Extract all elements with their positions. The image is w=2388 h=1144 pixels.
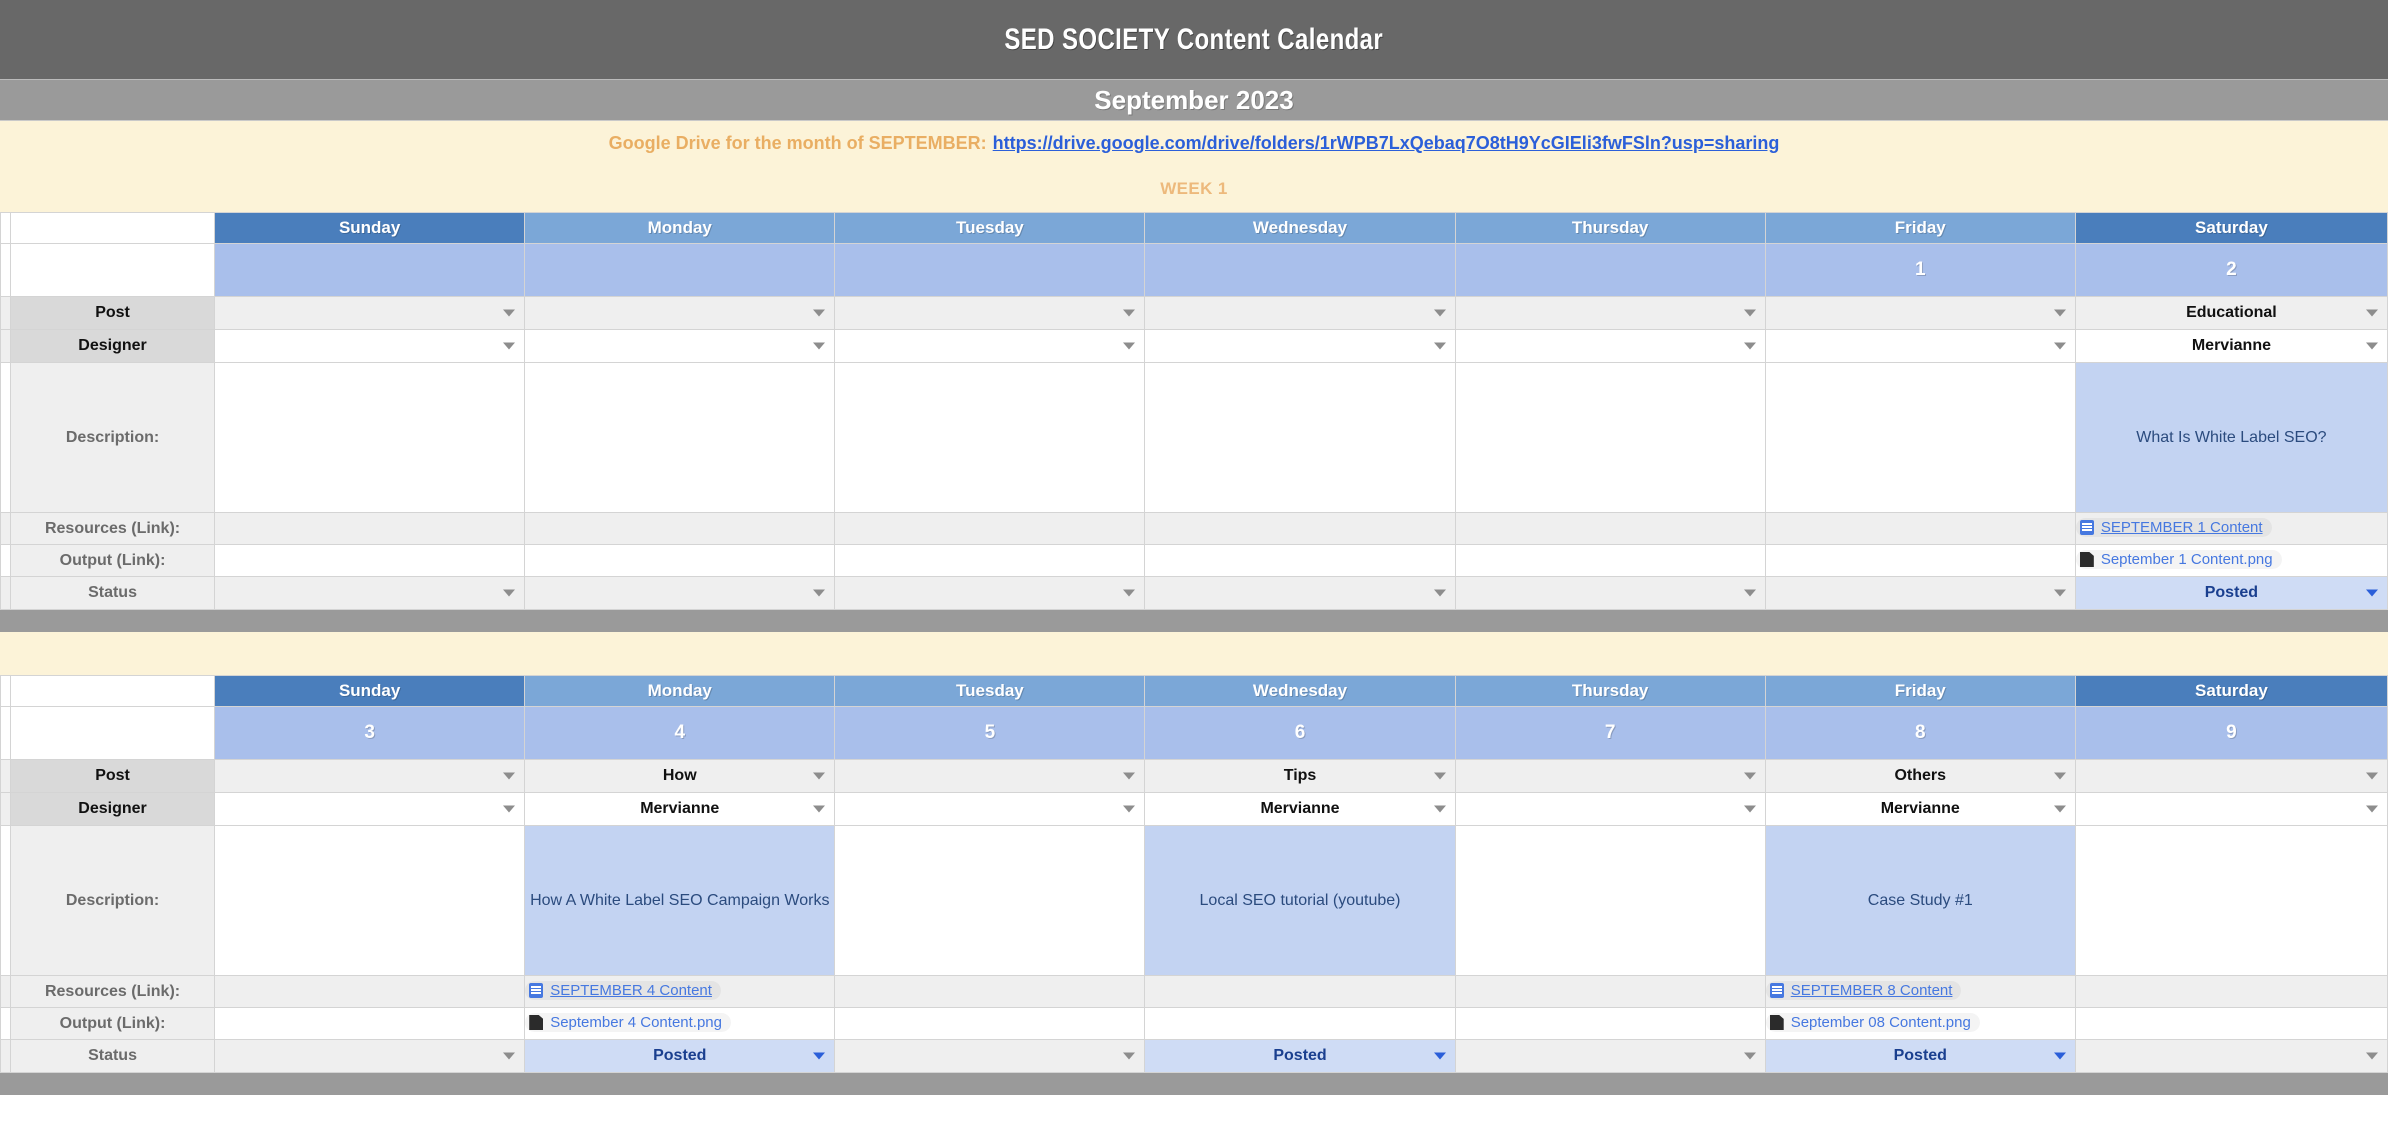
status-cell-3[interactable] bbox=[1145, 577, 1455, 610]
resource-link-text: SEPTEMBER 4 Content bbox=[550, 982, 712, 999]
row-gutter bbox=[1, 545, 11, 577]
row-gutter bbox=[1, 793, 11, 826]
post-cell-6[interactable] bbox=[2075, 760, 2387, 793]
sheet-title-banner: SED SOCIETY Content Calendar bbox=[0, 0, 2388, 80]
designer-cell-6[interactable]: Mervianne bbox=[2075, 330, 2387, 363]
designer-cell-4[interactable] bbox=[1455, 793, 1765, 826]
resources-row: Resources (Link):SEPTEMBER 1 Content bbox=[1, 513, 2388, 545]
resource-cell-0[interactable] bbox=[215, 976, 525, 1008]
status-row: StatusPostedPostedPosted bbox=[1, 1040, 2388, 1073]
week-label: WEEK 1 bbox=[1160, 179, 1228, 199]
post-cell-0[interactable] bbox=[215, 760, 525, 793]
image-file-icon bbox=[2080, 552, 2094, 567]
dropdown-caret-icon[interactable] bbox=[1123, 343, 1135, 350]
row-gutter bbox=[1, 826, 11, 976]
drive-folder-link[interactable]: https://drive.google.com/drive/folders/1… bbox=[993, 133, 1780, 154]
output-link-chip[interactable]: September 08 Content.png bbox=[1766, 1013, 1980, 1032]
designer-cell-1[interactable]: Mervianne bbox=[525, 793, 835, 826]
output-link-text: September 4 Content.png bbox=[550, 1014, 722, 1031]
post-cell-5[interactable] bbox=[1765, 297, 2075, 330]
resource-cell-1[interactable]: SEPTEMBER 4 Content bbox=[525, 976, 835, 1008]
corner-cell bbox=[11, 676, 215, 707]
resource-cell-6[interactable] bbox=[2075, 976, 2387, 1008]
day-header-wednesday: Wednesday bbox=[1145, 213, 1455, 244]
status-cell-6[interactable] bbox=[2075, 1040, 2387, 1073]
resource-cell-4[interactable] bbox=[1455, 976, 1765, 1008]
dropdown-caret-icon[interactable] bbox=[503, 343, 515, 350]
week-2-label-row bbox=[0, 632, 2388, 675]
output-link-chip[interactable]: September 1 Content.png bbox=[2076, 550, 2282, 569]
status-cell-5[interactable] bbox=[1765, 577, 2075, 610]
dropdown-caret-icon[interactable] bbox=[1123, 590, 1135, 597]
dropdown-caret-icon[interactable] bbox=[2054, 806, 2066, 813]
dropdown-caret-icon[interactable] bbox=[503, 1053, 515, 1060]
page-title: SED SOCIETY Content Calendar bbox=[1005, 23, 1384, 57]
designer-cell-1[interactable] bbox=[525, 330, 835, 363]
dropdown-caret-icon[interactable] bbox=[813, 773, 825, 780]
status-cell-0[interactable] bbox=[215, 1040, 525, 1073]
description-cell-3[interactable] bbox=[1145, 363, 1455, 513]
row-gutter bbox=[1, 1008, 11, 1040]
row-gutter bbox=[1, 513, 11, 545]
dropdown-caret-icon[interactable] bbox=[1434, 1053, 1446, 1060]
resource-cell-2[interactable] bbox=[835, 513, 1145, 545]
row-gutter bbox=[1, 676, 11, 707]
dropdown-caret-icon[interactable] bbox=[1744, 1053, 1756, 1060]
bottom-gray-band bbox=[0, 1073, 2388, 1095]
week-separator-gray bbox=[0, 610, 2388, 632]
row-label-output: Output (Link): bbox=[11, 1008, 215, 1040]
row-gutter bbox=[1, 1040, 11, 1073]
post-cell-5[interactable]: Others bbox=[1765, 760, 2075, 793]
dropdown-caret-icon[interactable] bbox=[813, 343, 825, 350]
week-2-grid: SundayMondayTuesdayWednesdayThursdayFrid… bbox=[0, 675, 2388, 1073]
week-1-label-row: WEEK 1 bbox=[0, 166, 2388, 212]
dropdown-caret-icon[interactable] bbox=[1123, 310, 1135, 317]
output-cell-0[interactable] bbox=[215, 545, 525, 577]
dropdown-caret-icon[interactable] bbox=[2054, 1053, 2066, 1060]
dropdown-caret-icon[interactable] bbox=[2054, 590, 2066, 597]
row-label-resources: Resources (Link): bbox=[11, 976, 215, 1008]
date-cell-2[interactable] bbox=[835, 244, 1145, 297]
row-gutter bbox=[1, 707, 11, 760]
dropdown-caret-icon[interactable] bbox=[1434, 590, 1446, 597]
corner-cell bbox=[11, 707, 215, 760]
row-label-description: Description: bbox=[11, 826, 215, 976]
day-header-thursday: Thursday bbox=[1455, 676, 1765, 707]
row-gutter bbox=[1, 577, 11, 610]
resource-cell-1[interactable] bbox=[525, 513, 835, 545]
output-cell-2[interactable] bbox=[835, 545, 1145, 577]
row-label-description: Description: bbox=[11, 363, 215, 513]
output-cell-6[interactable]: September 1 Content.png bbox=[2075, 545, 2387, 577]
post-cell-1[interactable] bbox=[525, 297, 835, 330]
resource-link-chip[interactable]: SEPTEMBER 8 Content bbox=[1766, 981, 1962, 1000]
output-link-text: September 08 Content.png bbox=[1791, 1014, 1971, 1031]
day-header-friday: Friday bbox=[1765, 213, 2075, 244]
content-calendar-sheet: SED SOCIETY Content Calendar September 2… bbox=[0, 0, 2388, 1144]
date-number-row: 3456789 bbox=[1, 707, 2388, 760]
dropdown-caret-icon[interactable] bbox=[2054, 310, 2066, 317]
dropdown-caret-icon[interactable] bbox=[1434, 806, 1446, 813]
post-row: PostEducational bbox=[1, 297, 2388, 330]
resource-cell-2[interactable] bbox=[835, 976, 1145, 1008]
dropdown-caret-icon[interactable] bbox=[813, 310, 825, 317]
resource-link-chip[interactable]: SEPTEMBER 1 Content bbox=[2076, 518, 2272, 537]
resource-cell-5[interactable]: SEPTEMBER 8 Content bbox=[1765, 976, 2075, 1008]
date-cell-0[interactable]: 3 bbox=[215, 707, 525, 760]
date-cell-1[interactable] bbox=[525, 244, 835, 297]
dropdown-caret-icon[interactable] bbox=[813, 590, 825, 597]
row-label-output: Output (Link): bbox=[11, 545, 215, 577]
date-cell-4[interactable]: 7 bbox=[1455, 707, 1765, 760]
dropdown-caret-icon[interactable] bbox=[813, 1053, 825, 1060]
row-gutter bbox=[1, 760, 11, 793]
dropdown-caret-icon[interactable] bbox=[503, 310, 515, 317]
designer-cell-3[interactable]: Mervianne bbox=[1145, 793, 1455, 826]
designer-row: DesignerMervianne bbox=[1, 330, 2388, 363]
dropdown-caret-icon[interactable] bbox=[2366, 806, 2378, 813]
status-row: StatusPosted bbox=[1, 577, 2388, 610]
week-2-body: SundayMondayTuesdayWednesdayThursdayFrid… bbox=[1, 676, 2388, 1073]
date-cell-5[interactable]: 8 bbox=[1765, 707, 2075, 760]
day-header-tuesday: Tuesday bbox=[835, 676, 1145, 707]
output-cell-3[interactable] bbox=[1145, 1008, 1455, 1040]
dropdown-caret-icon[interactable] bbox=[1744, 806, 1756, 813]
row-label-post: Post bbox=[11, 297, 215, 330]
output-cell-5[interactable] bbox=[1765, 545, 2075, 577]
description-cell-3[interactable]: Local SEO tutorial (youtube) bbox=[1145, 826, 1455, 976]
description-cell-1[interactable]: How A White Label SEO Campaign Works bbox=[525, 826, 835, 976]
designer-cell-6[interactable] bbox=[2075, 793, 2387, 826]
status-cell-0[interactable] bbox=[215, 577, 525, 610]
drive-link-row: Google Drive for the month of SEPTEMBER:… bbox=[0, 121, 2388, 166]
dropdown-caret-icon[interactable] bbox=[2366, 773, 2378, 780]
post-cell-1[interactable]: How bbox=[525, 760, 835, 793]
status-cell-5[interactable]: Posted bbox=[1765, 1040, 2075, 1073]
output-cell-0[interactable] bbox=[215, 1008, 525, 1040]
designer-cell-5[interactable] bbox=[1765, 330, 2075, 363]
day-header-sunday: Sunday bbox=[215, 676, 525, 707]
date-number-row: 12 bbox=[1, 244, 2388, 297]
description-cell-6[interactable]: What Is White Label SEO? bbox=[2075, 363, 2387, 513]
resource-link-text: SEPTEMBER 8 Content bbox=[1791, 982, 1953, 999]
resource-link-chip[interactable]: SEPTEMBER 4 Content bbox=[525, 981, 721, 1000]
dropdown-caret-icon[interactable] bbox=[2366, 310, 2378, 317]
date-cell-3[interactable]: 6 bbox=[1145, 707, 1455, 760]
image-file-icon bbox=[1770, 1015, 1784, 1030]
row-label-post: Post bbox=[11, 760, 215, 793]
output-cell-1[interactable] bbox=[525, 545, 835, 577]
date-cell-6[interactable]: 2 bbox=[2075, 244, 2387, 297]
resource-cell-5[interactable] bbox=[1765, 513, 2075, 545]
dropdown-caret-icon[interactable] bbox=[2366, 1053, 2378, 1060]
status-cell-6[interactable]: Posted bbox=[2075, 577, 2387, 610]
dropdown-caret-icon[interactable] bbox=[2366, 343, 2378, 350]
row-label-status: Status bbox=[11, 1040, 215, 1073]
description-row: Description:How A White Label SEO Campai… bbox=[1, 826, 2388, 976]
resources-row: Resources (Link):SEPTEMBER 4 ContentSEPT… bbox=[1, 976, 2388, 1008]
dropdown-caret-icon[interactable] bbox=[503, 590, 515, 597]
row-label-designer: Designer bbox=[11, 330, 215, 363]
resource-cell-0[interactable] bbox=[215, 513, 525, 545]
description-cell-1[interactable] bbox=[525, 363, 835, 513]
designer-row: DesignerMervianneMervianneMervianne bbox=[1, 793, 2388, 826]
day-header-saturday: Saturday bbox=[2075, 213, 2387, 244]
image-file-icon bbox=[529, 1015, 543, 1030]
post-cell-0[interactable] bbox=[215, 297, 525, 330]
row-gutter bbox=[1, 330, 11, 363]
date-cell-2[interactable]: 5 bbox=[835, 707, 1145, 760]
post-row: PostHowTipsOthers bbox=[1, 760, 2388, 793]
designer-cell-0[interactable] bbox=[215, 793, 525, 826]
designer-cell-4[interactable] bbox=[1455, 330, 1765, 363]
status-cell-4[interactable] bbox=[1455, 577, 1765, 610]
corner-cell bbox=[11, 213, 215, 244]
output-row: Output (Link):September 4 Content.pngSep… bbox=[1, 1008, 2388, 1040]
description-cell-5[interactable]: Case Study #1 bbox=[1765, 826, 2075, 976]
day-header-sunday: Sunday bbox=[215, 213, 525, 244]
row-gutter bbox=[1, 363, 11, 513]
post-cell-2[interactable] bbox=[835, 760, 1145, 793]
day-header-saturday: Saturday bbox=[2075, 676, 2387, 707]
post-cell-4[interactable] bbox=[1455, 297, 1765, 330]
resource-cell-6[interactable]: SEPTEMBER 1 Content bbox=[2075, 513, 2387, 545]
status-cell-1[interactable]: Posted bbox=[525, 1040, 835, 1073]
post-cell-2[interactable] bbox=[835, 297, 1145, 330]
day-header-friday: Friday bbox=[1765, 676, 2075, 707]
status-cell-4[interactable] bbox=[1455, 1040, 1765, 1073]
drive-link-label: Google Drive for the month of SEPTEMBER: bbox=[609, 133, 987, 154]
day-header-tuesday: Tuesday bbox=[835, 213, 1145, 244]
output-cell-4[interactable] bbox=[1455, 545, 1765, 577]
dropdown-caret-icon[interactable] bbox=[2366, 590, 2378, 597]
row-gutter bbox=[1, 297, 11, 330]
designer-cell-2[interactable] bbox=[835, 330, 1145, 363]
output-cell-5[interactable]: September 08 Content.png bbox=[1765, 1008, 2075, 1040]
post-cell-4[interactable] bbox=[1455, 760, 1765, 793]
week-1-body: SundayMondayTuesdayWednesdayThursdayFrid… bbox=[1, 213, 2388, 610]
description-cell-4[interactable] bbox=[1455, 363, 1765, 513]
row-label-status: Status bbox=[11, 577, 215, 610]
google-doc-icon bbox=[2080, 520, 2094, 535]
resource-cell-3[interactable] bbox=[1145, 513, 1455, 545]
row-gutter bbox=[1, 213, 11, 244]
dropdown-caret-icon[interactable] bbox=[2054, 773, 2066, 780]
dropdown-caret-icon[interactable] bbox=[503, 806, 515, 813]
dropdown-caret-icon[interactable] bbox=[1744, 773, 1756, 780]
month-banner: September 2023 bbox=[0, 80, 2388, 121]
output-cell-6[interactable] bbox=[2075, 1008, 2387, 1040]
output-cell-2[interactable] bbox=[835, 1008, 1145, 1040]
date-cell-3[interactable] bbox=[1145, 244, 1455, 297]
description-row: Description:What Is White Label SEO? bbox=[1, 363, 2388, 513]
status-cell-3[interactable]: Posted bbox=[1145, 1040, 1455, 1073]
description-cell-4[interactable] bbox=[1455, 826, 1765, 976]
dropdown-caret-icon[interactable] bbox=[1744, 310, 1756, 317]
dropdown-caret-icon[interactable] bbox=[1123, 773, 1135, 780]
dropdown-caret-icon[interactable] bbox=[1434, 343, 1446, 350]
description-cell-5[interactable] bbox=[1765, 363, 2075, 513]
description-cell-0[interactable] bbox=[215, 826, 525, 976]
post-cell-3[interactable] bbox=[1145, 297, 1455, 330]
output-cell-3[interactable] bbox=[1145, 545, 1455, 577]
day-header-monday: Monday bbox=[525, 676, 835, 707]
date-cell-5[interactable]: 1 bbox=[1765, 244, 2075, 297]
row-gutter bbox=[1, 976, 11, 1008]
dropdown-caret-icon[interactable] bbox=[1744, 343, 1756, 350]
output-link-text: September 1 Content.png bbox=[2101, 551, 2273, 568]
dropdown-caret-icon[interactable] bbox=[503, 773, 515, 780]
row-label-designer: Designer bbox=[11, 793, 215, 826]
day-header-monday: Monday bbox=[525, 213, 835, 244]
row-label-resources: Resources (Link): bbox=[11, 513, 215, 545]
day-header-thursday: Thursday bbox=[1455, 213, 1765, 244]
date-cell-4[interactable] bbox=[1455, 244, 1765, 297]
description-cell-2[interactable] bbox=[835, 363, 1145, 513]
date-cell-1[interactable]: 4 bbox=[525, 707, 835, 760]
resource-link-text: SEPTEMBER 1 Content bbox=[2101, 519, 2263, 536]
status-cell-1[interactable] bbox=[525, 577, 835, 610]
post-cell-3[interactable]: Tips bbox=[1145, 760, 1455, 793]
output-cell-1[interactable]: September 4 Content.png bbox=[525, 1008, 835, 1040]
day-header-row: SundayMondayTuesdayWednesdayThursdayFrid… bbox=[1, 213, 2388, 244]
status-cell-2[interactable] bbox=[835, 1040, 1145, 1073]
day-header-row: SundayMondayTuesdayWednesdayThursdayFrid… bbox=[1, 676, 2388, 707]
output-row: Output (Link):September 1 Content.png bbox=[1, 545, 2388, 577]
post-cell-6[interactable]: Educational bbox=[2075, 297, 2387, 330]
week-1-grid: SundayMondayTuesdayWednesdayThursdayFrid… bbox=[0, 212, 2388, 610]
google-doc-icon bbox=[1770, 983, 1784, 998]
resource-cell-4[interactable] bbox=[1455, 513, 1765, 545]
description-cell-0[interactable] bbox=[215, 363, 525, 513]
corner-cell bbox=[11, 244, 215, 297]
google-doc-icon bbox=[529, 983, 543, 998]
designer-cell-5[interactable]: Mervianne bbox=[1765, 793, 2075, 826]
dropdown-caret-icon[interactable] bbox=[1744, 590, 1756, 597]
designer-cell-2[interactable] bbox=[835, 793, 1145, 826]
status-cell-2[interactable] bbox=[835, 577, 1145, 610]
description-cell-6[interactable] bbox=[2075, 826, 2387, 976]
dropdown-caret-icon[interactable] bbox=[813, 806, 825, 813]
dropdown-caret-icon[interactable] bbox=[2054, 343, 2066, 350]
resource-cell-3[interactable] bbox=[1145, 976, 1455, 1008]
output-cell-4[interactable] bbox=[1455, 1008, 1765, 1040]
row-gutter bbox=[1, 244, 11, 297]
date-cell-0[interactable] bbox=[215, 244, 525, 297]
designer-cell-0[interactable] bbox=[215, 330, 525, 363]
dropdown-caret-icon[interactable] bbox=[1123, 1053, 1135, 1060]
day-header-wednesday: Wednesday bbox=[1145, 676, 1455, 707]
date-cell-6[interactable]: 9 bbox=[2075, 707, 2387, 760]
output-link-chip[interactable]: September 4 Content.png bbox=[525, 1013, 731, 1032]
dropdown-caret-icon[interactable] bbox=[1434, 310, 1446, 317]
dropdown-caret-icon[interactable] bbox=[1123, 806, 1135, 813]
description-cell-2[interactable] bbox=[835, 826, 1145, 976]
month-label: September 2023 bbox=[1094, 85, 1293, 116]
dropdown-caret-icon[interactable] bbox=[1434, 773, 1446, 780]
designer-cell-3[interactable] bbox=[1145, 330, 1455, 363]
